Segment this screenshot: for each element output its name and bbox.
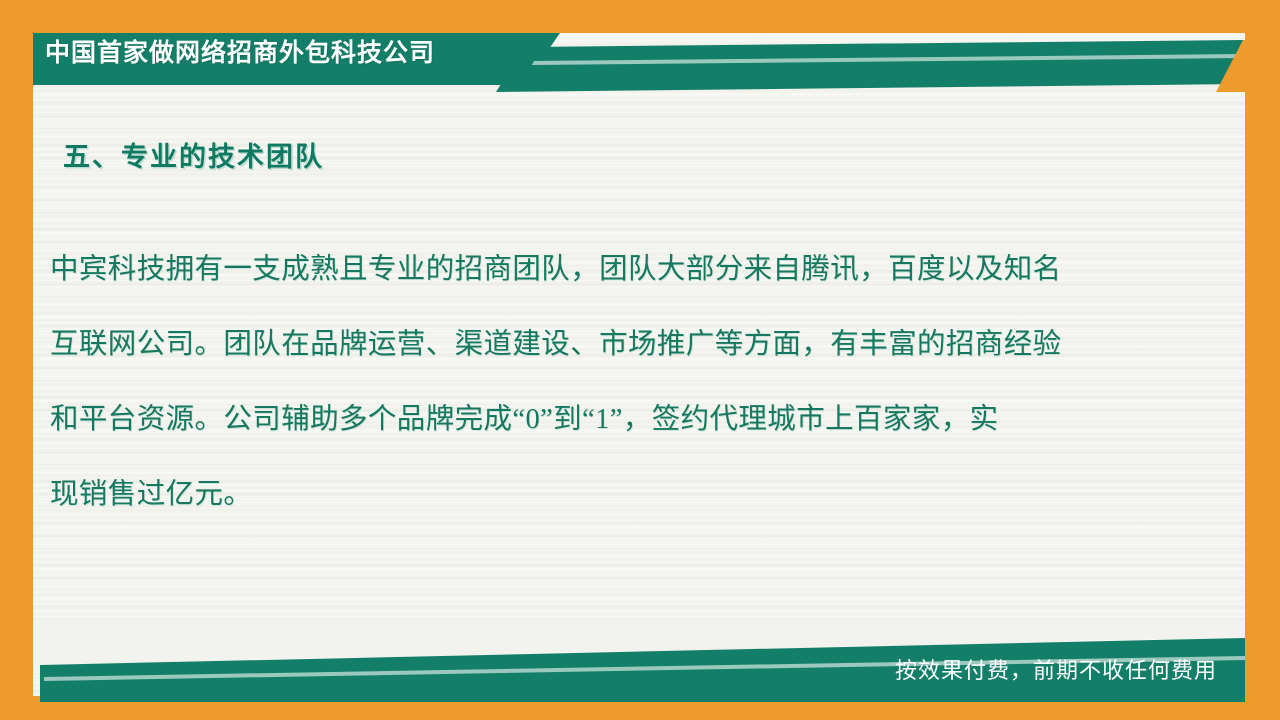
paragraph-line-2: 互联网公司。团队在品牌运营、渠道建设、市场推广等方面，有丰富的招商经验 [50,307,1180,382]
footer-tagline: 按效果付费，前期不收任何费用 [895,653,1217,685]
header-green-band [496,40,1243,92]
slide-canvas: 中国首家做网络招商外包科技公司 五、专业的技术团队 中宾科技拥有一支成熟且专业的… [0,0,1280,720]
paragraph-line-1: 中宾科技拥有一支成熟且专业的招商团队，团队大部分来自腾讯，百度以及知名 [50,232,1180,307]
orange-border-right [1245,0,1280,720]
footer-orange-right [1245,620,1280,720]
slide-footer: 按效果付费，前期不收任何费用 [0,620,1280,720]
slide-header: 中国首家做网络招商外包科技公司 [0,0,1280,105]
footer-orange-strip [0,702,1280,720]
body-paragraph: 中宾科技拥有一支成熟且专业的招商团队，团队大部分来自腾讯，百度以及知名 互联网公… [50,232,1180,532]
header-title: 中国首家做网络招商外包科技公司 [45,35,435,71]
footer-orange-left [0,620,33,720]
section-heading: 五、专业的技术团队 [63,135,324,174]
paragraph-line-3: 和平台资源。公司辅助多个品牌完成“0”到“1”，签约代理城市上百家家，实 [50,382,1180,457]
paragraph-line-4: 现销售过亿元。 [50,457,1180,532]
orange-border-left [0,0,33,720]
